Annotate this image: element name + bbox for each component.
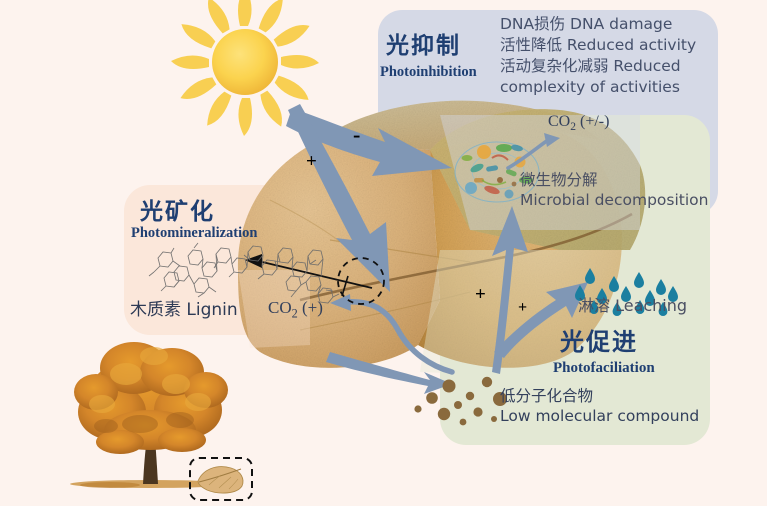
leaching-label: 淋溶 Leaching — [578, 292, 687, 316]
lignin-label: 木质素 Lignin — [130, 295, 238, 320]
effect-line-3: 活动复杂化减弱 Reduced — [500, 56, 712, 77]
sign-plus-photomineralization: + — [306, 152, 317, 171]
microbial-zh: 微生物分解 — [520, 170, 708, 190]
photoinhibition-title-en: Photoinhibition — [380, 64, 477, 81]
low-molecular-compound-label: 低分子化合物 Low molecular compound — [500, 386, 699, 426]
low-molecular-en: Low molecular compound — [500, 406, 699, 426]
effect-line-4: complexity of activities — [500, 77, 712, 98]
photoinhibition-effects-list: DNA损伤 DNA damage 活性降低 Reduced activity 活… — [500, 14, 712, 98]
photoinhibition-title-zh: 光抑制 — [386, 26, 461, 60]
microbial-en: Microbial decomposition — [520, 190, 708, 210]
photofacilitation-title-zh: 光促进 — [560, 322, 638, 357]
figure-canvas: 光抑制 Photoinhibition DNA损伤 DNA damage 活性降… — [0, 0, 767, 506]
effect-line-1: DNA损伤 DNA damage — [500, 14, 712, 35]
sign-plus-leaching: + — [518, 300, 527, 316]
co2-post: (+) — [298, 298, 323, 317]
sign-plus-upward: + — [475, 285, 486, 304]
co2-pre: CO — [268, 298, 292, 317]
co2-md-pre: CO — [548, 113, 570, 130]
photofacilitation-title-en: Photofaciliation — [553, 360, 655, 377]
microbial-decomposition-label: 微生物分解 Microbial decomposition — [520, 170, 708, 210]
low-molecular-zh: 低分子化合物 — [500, 386, 699, 406]
photomineralization-title-en: Photomineralization — [131, 225, 257, 242]
co2-microbial-label: CO2 (+/-) — [548, 113, 609, 133]
co2-md-post: (+/-) — [576, 113, 609, 130]
sign-minus: - — [353, 124, 360, 146]
co2-photomineralization-label: CO2 (+) — [268, 298, 323, 321]
photomineralization-title-zh: 光矿化 — [140, 192, 215, 226]
effect-line-2: 活性降低 Reduced activity — [500, 35, 712, 56]
